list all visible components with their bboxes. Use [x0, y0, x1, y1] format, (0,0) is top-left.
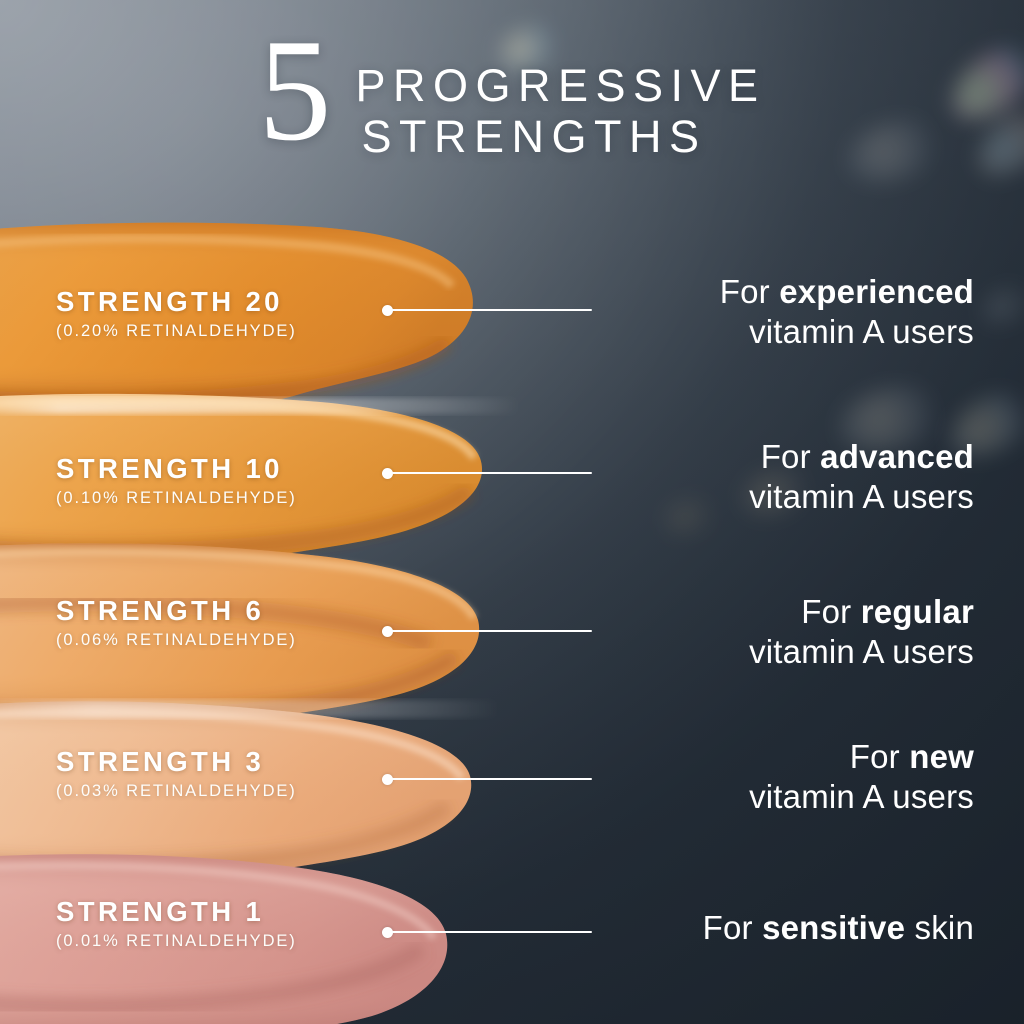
description-10: For advanced vitamin A users	[749, 437, 974, 516]
description-3: For new vitamin A users	[749, 737, 974, 816]
connector-line-10	[382, 466, 592, 480]
description-20: For experienced vitamin A users	[720, 272, 974, 351]
description-line-1: For advanced	[749, 437, 974, 477]
strength-label-1: STRENGTH 1 (0.01% RETINALDEHYDE)	[56, 898, 297, 949]
connector-line-3	[382, 772, 592, 786]
strength-percent: (0.20% RETINALDEHYDE)	[56, 323, 297, 340]
connector-bar	[392, 931, 592, 933]
description-1: For sensitive skin	[703, 908, 974, 948]
title-line-2: STRENGTHS	[355, 111, 765, 162]
description-line-1: For regular	[749, 592, 974, 632]
strength-percent: (0.10% RETINALDEHYDE)	[56, 490, 297, 507]
strength-percent: (0.06% RETINALDEHYDE)	[56, 632, 297, 649]
strength-label-10: STRENGTH 10 (0.10% RETINALDEHYDE)	[56, 455, 297, 506]
title-line-1: PROGRESSIVE	[355, 60, 765, 111]
description-line-1: For experienced	[720, 272, 974, 312]
strength-label-6: STRENGTH 6 (0.06% RETINALDEHYDE)	[56, 597, 297, 648]
desc-emphasis: experienced	[779, 273, 974, 310]
description-line-2: vitamin A users	[749, 777, 974, 817]
connector-line-1	[382, 925, 592, 939]
strength-name: STRENGTH 1	[56, 898, 297, 926]
desc-prefix: For	[850, 738, 909, 775]
desc-emphasis: sensitive	[762, 909, 905, 946]
strength-name: STRENGTH 6	[56, 597, 297, 625]
desc-prefix: For	[761, 438, 820, 475]
title-text: PROGRESSIVE STRENGTHS	[355, 38, 765, 163]
page-title: 5 PROGRESSIVE STRENGTHS	[0, 38, 1024, 163]
strength-percent: (0.03% RETINALDEHYDE)	[56, 783, 297, 800]
title-count: 5	[258, 26, 329, 154]
strength-label-3: STRENGTH 3 (0.03% RETINALDEHYDE)	[56, 748, 297, 799]
desc-emphasis: new	[909, 738, 974, 775]
connector-line-20	[382, 303, 592, 317]
description-line-2: vitamin A users	[749, 477, 974, 517]
strength-name: STRENGTH 10	[56, 455, 297, 483]
desc-emphasis: regular	[861, 593, 974, 630]
desc-prefix: For	[801, 593, 860, 630]
description-line-1: For new	[749, 737, 974, 777]
connector-bar	[392, 630, 592, 632]
connector-line-6	[382, 624, 592, 638]
desc-prefix: For	[703, 909, 762, 946]
strength-percent: (0.01% RETINALDEHYDE)	[56, 933, 297, 950]
description-line-2: vitamin A users	[749, 632, 974, 672]
desc-suffix: skin	[905, 909, 974, 946]
strength-label-20: STRENGTH 20 (0.20% RETINALDEHYDE)	[56, 288, 297, 339]
description-6: For regular vitamin A users	[749, 592, 974, 671]
strength-name: STRENGTH 20	[56, 288, 297, 316]
strength-name: STRENGTH 3	[56, 748, 297, 776]
connector-bar	[392, 309, 592, 311]
connector-bar	[392, 472, 592, 474]
description-line-2: vitamin A users	[720, 312, 974, 352]
infographic-canvas: 5 PROGRESSIVE STRENGTHS STRENGTH 20 (0.2…	[0, 0, 1024, 1024]
desc-prefix: For	[720, 273, 779, 310]
desc-emphasis: advanced	[820, 438, 974, 475]
description-line-1: For sensitive skin	[703, 908, 974, 948]
connector-bar	[392, 778, 592, 780]
